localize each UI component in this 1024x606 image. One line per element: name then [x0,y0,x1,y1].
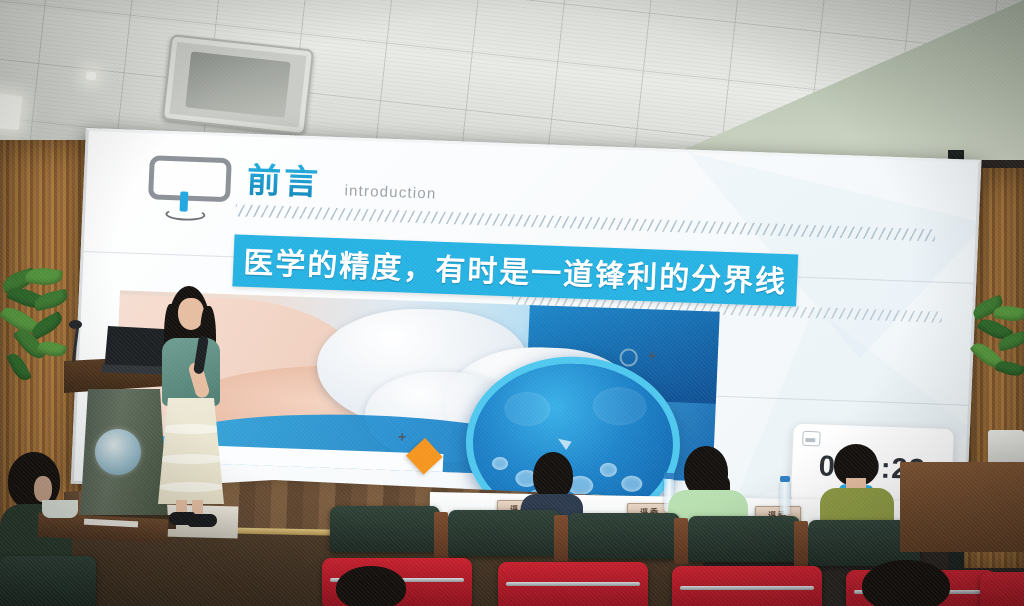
slide-heading-en: introduction [344,182,437,202]
plus-mark-icon: + [647,347,656,363]
plant-right [968,300,1024,410]
seat-armrest [554,515,568,561]
ceiling-light [86,71,97,80]
plus-mark-icon: + [398,428,407,444]
slide-heading-cn: 前言 [246,153,322,205]
attendee-face [34,476,52,502]
audience-head [336,566,406,606]
water-bottle [780,481,790,515]
floor-right [900,462,1024,552]
audience-head [862,560,950,606]
institution-emblem [95,429,141,475]
auditorium-seat [688,516,800,562]
presentation-screen-icon [148,155,232,202]
seat-trim [680,586,814,590]
seat-armrest [794,521,808,567]
plant-left [0,268,80,388]
ac-unit-icon [162,34,314,135]
timer-screen-icon [802,431,821,447]
presenter [150,286,232,530]
auditorium-photo-scene: 前言 introduction 医学的精度，有时是一道锋利的分界线 [0,0,1024,606]
auditorium-seat [568,513,680,559]
cup-left [42,500,78,518]
presenter-shoe [188,514,217,527]
auditorium-seat-left [0,556,96,606]
seat-armrest [674,518,688,564]
water-bottle-cap [780,476,790,482]
auditorium-seat-front [980,572,1024,606]
seat-armrest [434,512,448,558]
presenter-skirt [158,398,224,504]
auditorium-seat [448,510,560,556]
auditorium-seat [330,506,440,552]
seat-trim [506,582,640,586]
